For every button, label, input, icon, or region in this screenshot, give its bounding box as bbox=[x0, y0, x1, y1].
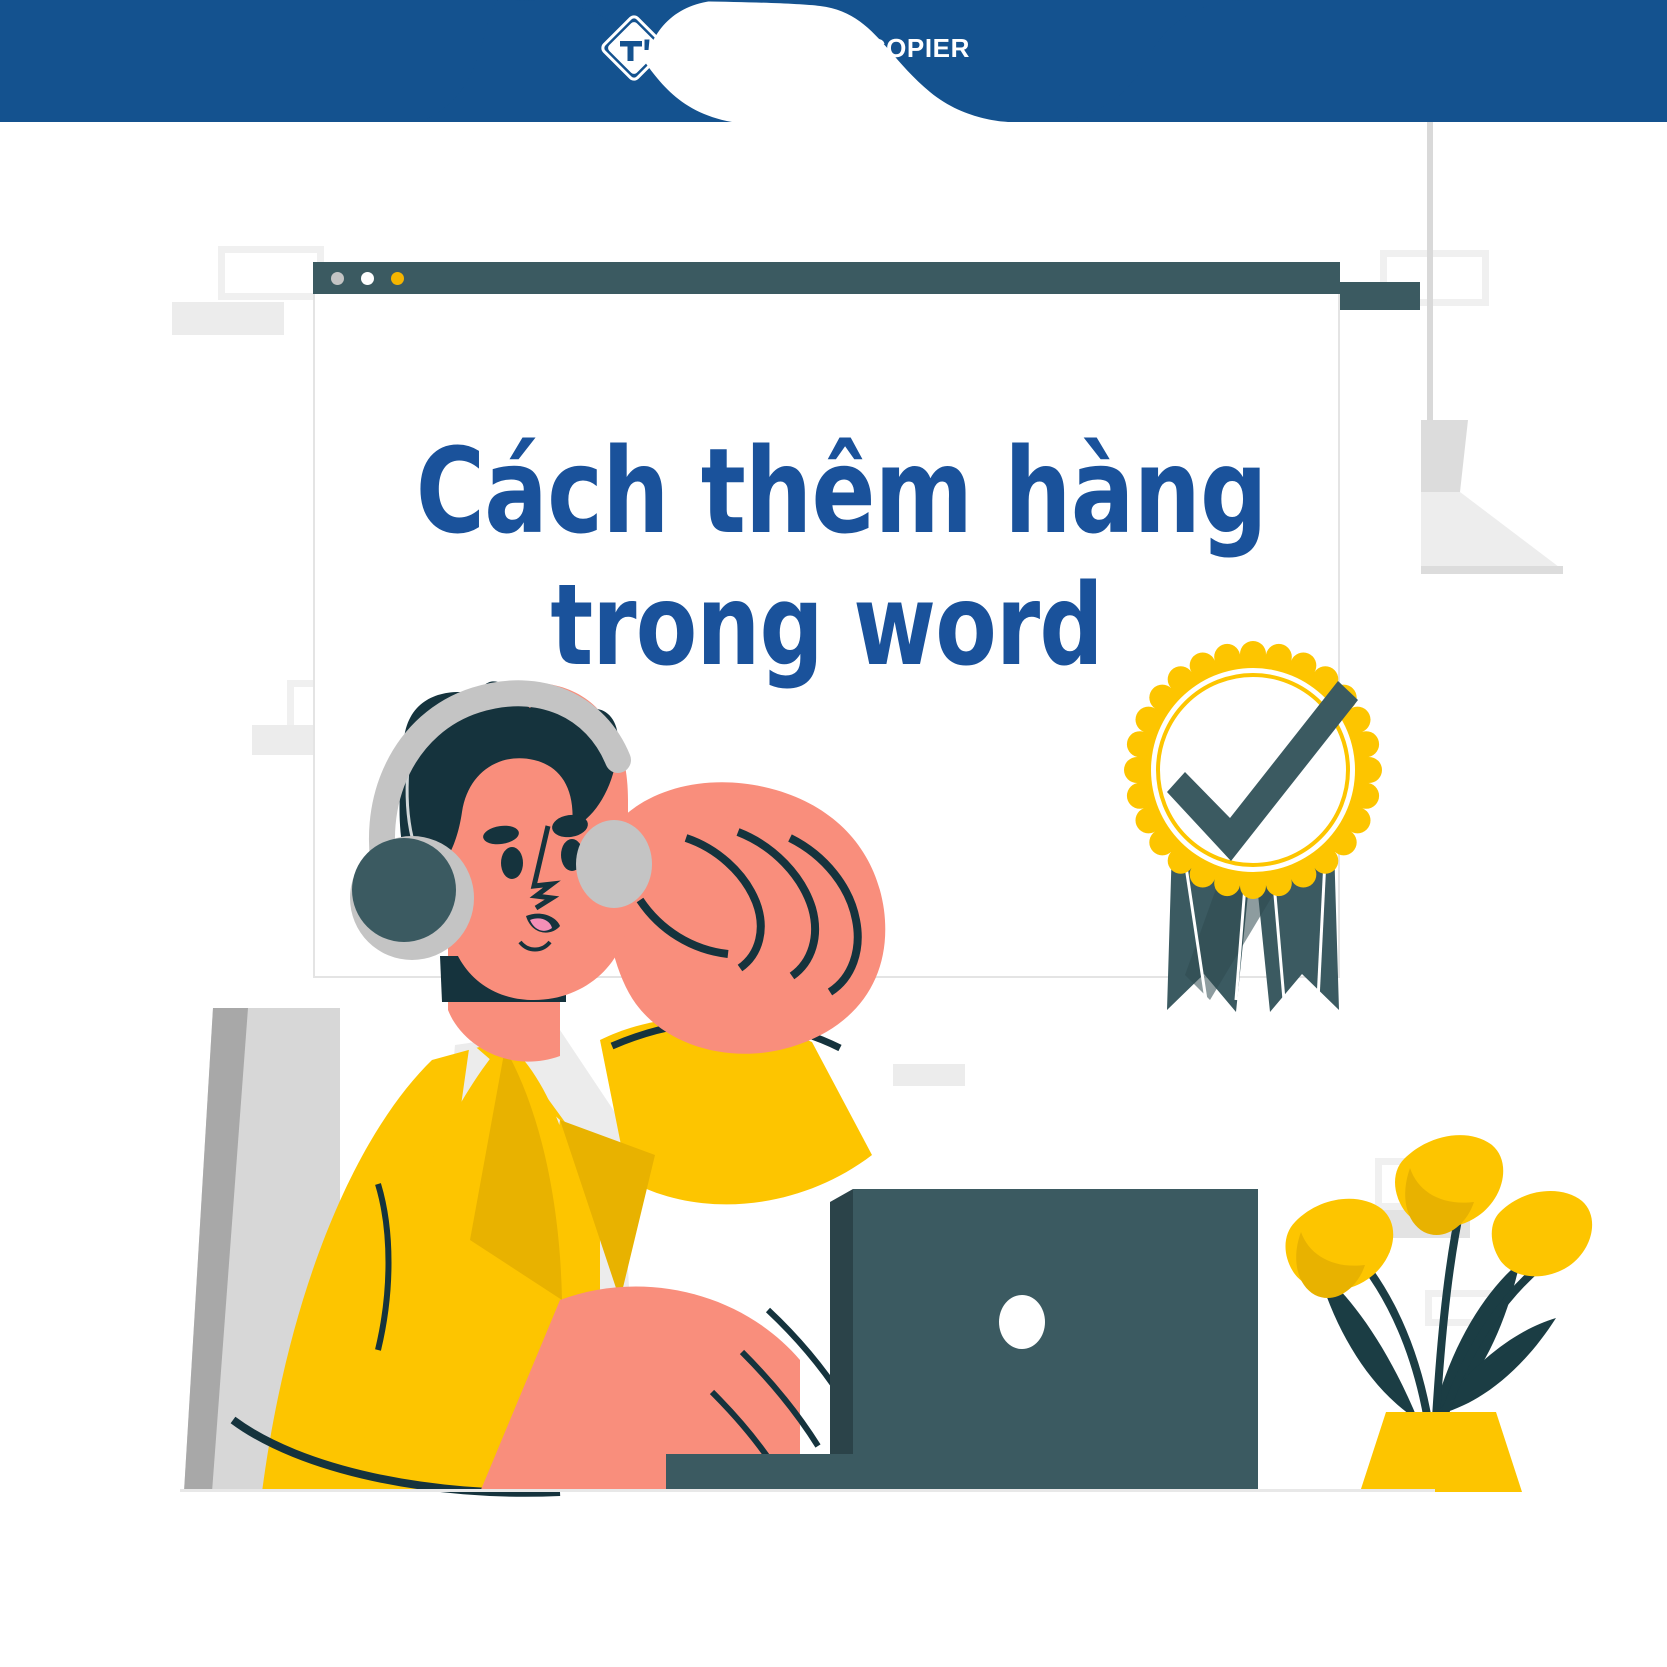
site-header: THIÊN PHÚC COPIER bbox=[0, 0, 1667, 120]
headset-earcup-right-shell bbox=[576, 820, 652, 908]
brand-block: THIÊN PHÚC COPIER bbox=[600, 14, 970, 82]
headset-earcup-left bbox=[352, 838, 456, 942]
badge-scallop bbox=[1149, 685, 1175, 711]
badge-scallop bbox=[1168, 666, 1194, 692]
badge-scallop bbox=[1127, 731, 1153, 757]
plant-flower-3 bbox=[1492, 1191, 1592, 1276]
laptop-base bbox=[666, 1454, 1258, 1492]
badge-scallop bbox=[1266, 870, 1292, 896]
badge-rosette bbox=[1124, 641, 1382, 899]
badge-scallop bbox=[1290, 652, 1316, 678]
badge-scallop bbox=[1312, 848, 1338, 874]
badge-scallop bbox=[1149, 829, 1175, 855]
verified-award-badge bbox=[1124, 641, 1382, 1012]
badge-scallop bbox=[1168, 848, 1194, 874]
badge-scallop bbox=[1127, 783, 1153, 809]
logo-diamond-inner bbox=[606, 20, 661, 75]
badge-scallop bbox=[1190, 652, 1216, 678]
badge-scallop bbox=[1240, 873, 1266, 899]
badge-scallop bbox=[1266, 644, 1292, 670]
brand-name: THIÊN PHÚC COPIER bbox=[694, 33, 970, 64]
badge-scallop bbox=[1214, 644, 1240, 670]
badge-scallop bbox=[1345, 807, 1371, 833]
plant-vase bbox=[1360, 1412, 1522, 1492]
laptop-camera-dot bbox=[999, 1295, 1045, 1349]
badge-scallop bbox=[1124, 757, 1150, 783]
badge-scallop bbox=[1353, 731, 1379, 757]
badge-scallop bbox=[1353, 783, 1379, 809]
laptop-screen bbox=[853, 1189, 1258, 1470]
diamond-logo-icon bbox=[600, 14, 668, 82]
laptop-screen-edge bbox=[830, 1189, 853, 1470]
character-thumbs-up-hand bbox=[605, 782, 885, 1054]
hero-illustration bbox=[0, 0, 1667, 1667]
badge-scallop bbox=[1214, 870, 1240, 896]
plant-flower-1 bbox=[1395, 1135, 1503, 1235]
character-eye-left bbox=[501, 847, 523, 879]
badge-scallop bbox=[1331, 829, 1357, 855]
badge-scallop bbox=[1290, 862, 1316, 888]
badge-scallop bbox=[1240, 641, 1266, 667]
poster-canvas: Cách thêm hàng trong word bbox=[0, 0, 1667, 1667]
badge-scallop bbox=[1190, 862, 1216, 888]
badge-scallop bbox=[1135, 807, 1161, 833]
floor-line bbox=[180, 1489, 1435, 1492]
potted-flowers bbox=[1285, 1135, 1592, 1492]
badge-scallop bbox=[1356, 757, 1382, 783]
badge-scallop bbox=[1135, 707, 1161, 733]
